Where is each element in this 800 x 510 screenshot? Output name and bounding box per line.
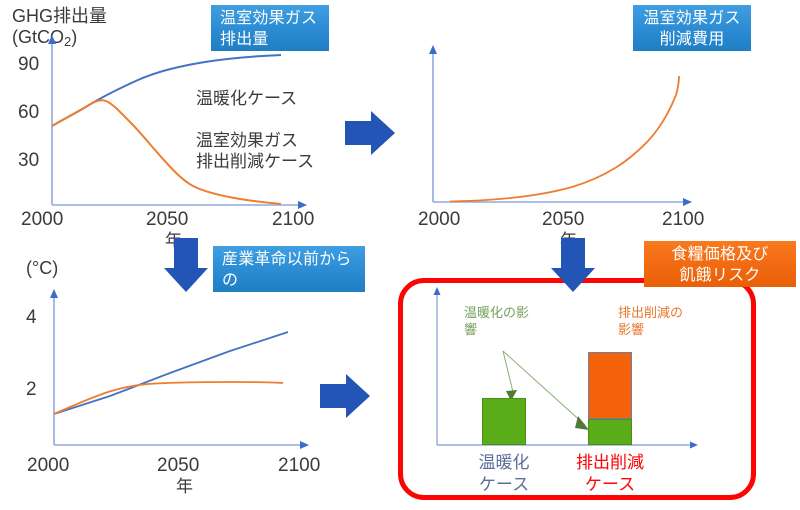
connector-arrow-emissions-to-cost [345, 105, 405, 165]
bar-reduction-green [588, 419, 632, 445]
connector-arrow-emissions-to-temperature [158, 238, 218, 300]
bar-category-reduction: 排出削減 ケース [558, 452, 662, 496]
callout-food: 食糧価格及び 飢餓リスク [644, 241, 796, 287]
panel-emissions: GHG排出量 (GtCO2) 90 60 30 2000 2050 2100 年… [0, 0, 400, 240]
bar-warming-green [482, 398, 526, 445]
connector-arrow-cost-to-food [545, 238, 605, 300]
annotation-reduction-impact: 排出削減の 影響 [618, 305, 683, 339]
figure-canvas: GHG排出量 (GtCO2) 90 60 30 2000 2050 2100 年… [0, 0, 800, 510]
emissions-label-reduction: 温室効果ガス 排出削減ケース [196, 130, 314, 173]
callout-temperature: 産業革命以前からの 全球平均気温変化 [213, 246, 365, 292]
bar-category-warming: 温暖化 ケース [462, 452, 546, 496]
callout-emissions: 温室効果ガス 排出量 [211, 5, 329, 51]
emissions-plot [0, 0, 400, 240]
connector-arrow-temperature-to-food [320, 368, 380, 428]
callout-cost: 温室効果ガス 削減費用 [633, 5, 751, 51]
bar-reduction-orange [588, 352, 632, 419]
emissions-label-warming: 温暖化ケース [196, 88, 297, 109]
annotation-warming-impact: 温暖化の影 響 [464, 305, 529, 339]
